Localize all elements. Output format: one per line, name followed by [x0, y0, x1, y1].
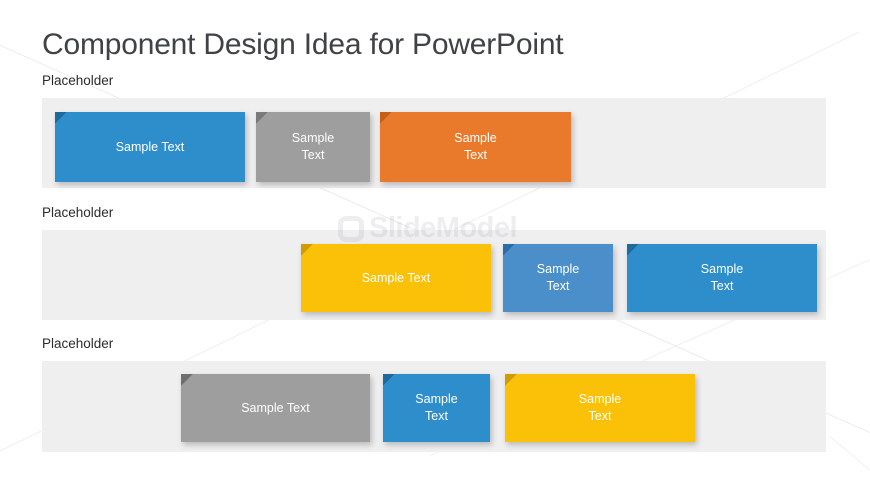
- placeholder-label-row-3: Placeholder: [42, 336, 113, 351]
- component-label: Sample Text: [233, 400, 318, 417]
- slide-title: Component Design Idea for PowerPoint: [42, 28, 563, 62]
- component-label: Sample Text: [693, 261, 751, 295]
- component-label: Sample Text: [407, 391, 465, 425]
- component-label: Sample Text: [446, 130, 504, 164]
- slide-canvas: Component Design Idea for PowerPoint Pla…: [0, 0, 870, 489]
- component-shape[interactable]: Sample Text: [181, 374, 370, 442]
- component-label: Sample Text: [354, 270, 439, 287]
- component-label: Sample Text: [108, 139, 193, 156]
- component-shape[interactable]: Sample Text: [301, 244, 491, 312]
- placeholder-label-row-2: Placeholder: [42, 205, 113, 220]
- component-shape[interactable]: Sample Text: [503, 244, 613, 312]
- component-shape[interactable]: Sample Text: [55, 112, 245, 182]
- component-label: Sample Text: [571, 391, 629, 425]
- placeholder-label-row-1: Placeholder: [42, 73, 113, 88]
- component-shape[interactable]: Sample Text: [380, 112, 571, 182]
- component-shape[interactable]: Sample Text: [627, 244, 817, 312]
- component-label: Sample Text: [529, 261, 587, 295]
- component-label: Sample Text: [284, 130, 342, 164]
- component-shape[interactable]: Sample Text: [505, 374, 695, 442]
- diagonal-artifact-line: [829, 436, 870, 489]
- component-shape[interactable]: Sample Text: [383, 374, 490, 442]
- component-shape[interactable]: Sample Text: [256, 112, 370, 182]
